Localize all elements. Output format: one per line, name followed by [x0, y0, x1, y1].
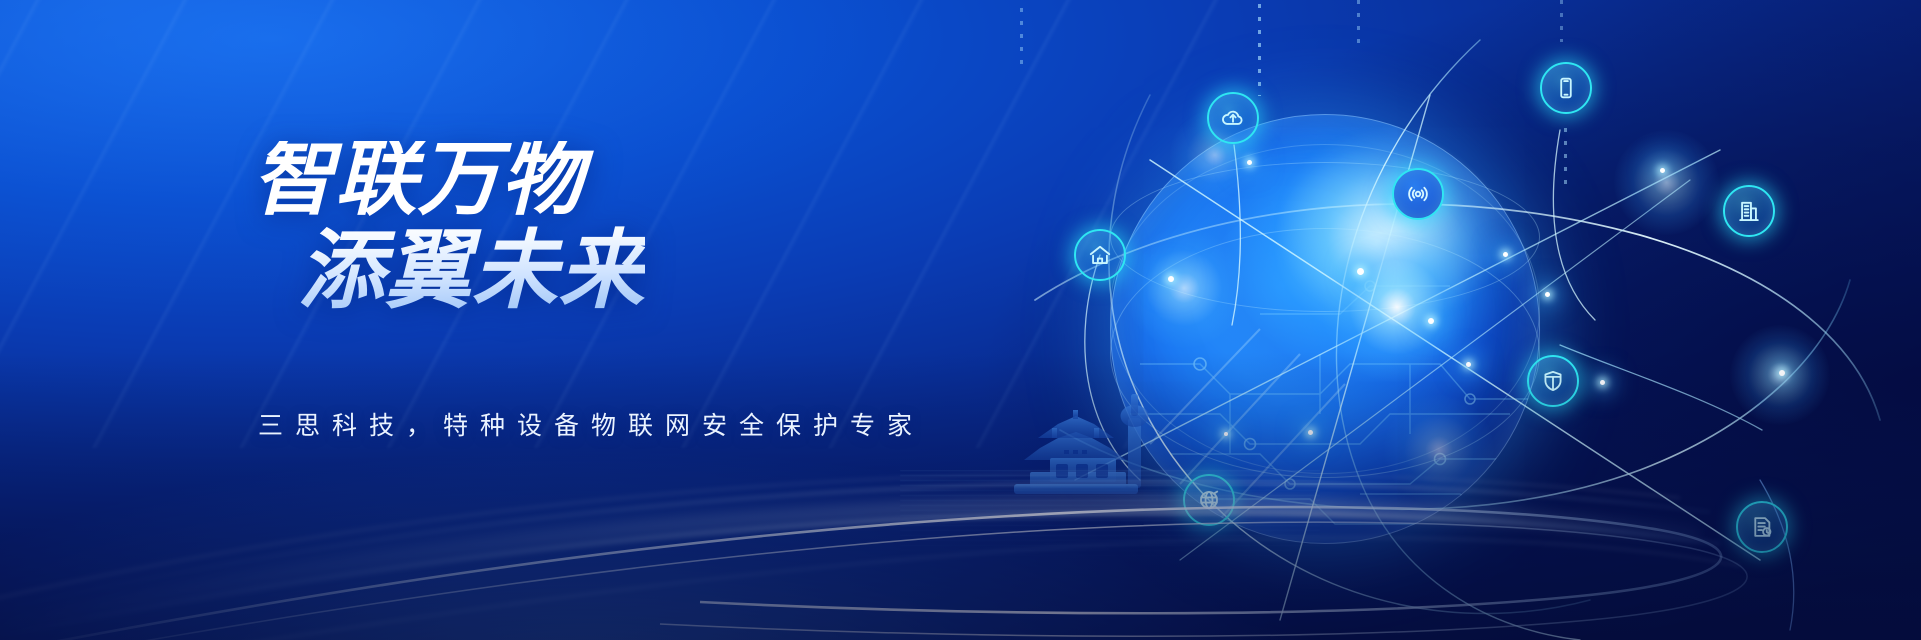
page-title: 智联万物 添翼未来 — [252, 141, 645, 312]
copy-block: 智联万物 添翼未来 三思科技，特种设备物联网安全保护专家 — [0, 0, 900, 640]
headline-line-1: 智联万物 — [252, 132, 583, 227]
hero-banner: 智联万物 添翼未来 三思科技，特种设备物联网安全保护专家 — [0, 0, 1921, 640]
headline-line-2: 添翼未来 — [298, 230, 645, 313]
page-subtitle: 三思科技，特种设备物联网安全保护专家 — [258, 406, 924, 442]
